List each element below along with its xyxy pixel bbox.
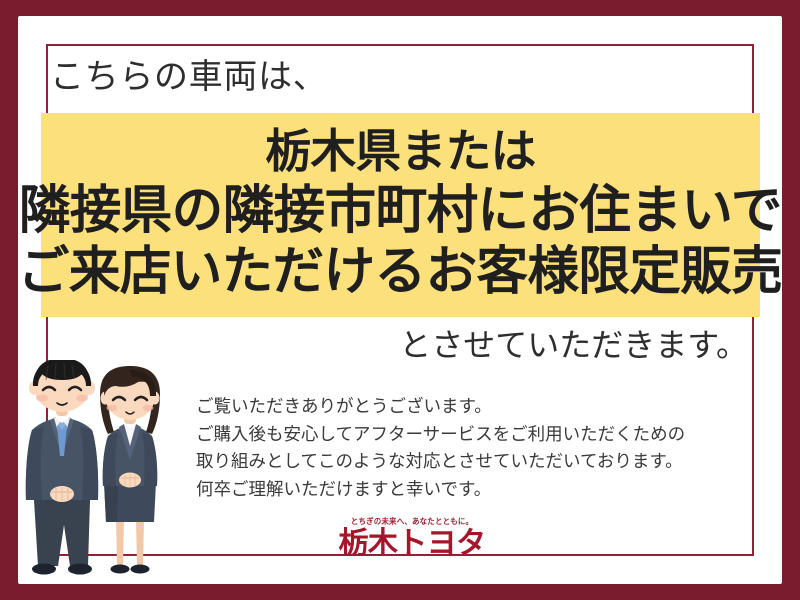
tail-line: とさせていただきます。 (399, 326, 748, 364)
body-line-4: 何卒ご理解いただけますと幸いです。 (196, 477, 685, 505)
highlight-line-1: 栃木県または (265, 127, 536, 176)
bowing-staff-svg (12, 360, 192, 588)
lead-line: こちらの車両は、 (50, 58, 327, 97)
highlight-line-2: 隣接県の隣接市町村にお住まいで (19, 184, 782, 239)
businesswoman-figure (100, 366, 160, 574)
logo-wordmark: 栃木トヨタ (322, 529, 502, 559)
body-line-1: ご覧いただきありがとうございます。 (196, 394, 685, 422)
logo-tagline: とちぎの未来へ、あなたとともに。 (322, 516, 502, 528)
poster-canvas: こちらの車両は、 栃木県または 隣接県の隣接市町村にお住まいで ご来店いただける… (0, 0, 800, 600)
businessman-figure (26, 360, 98, 575)
highlight-line-3: ご来店いただけるお客様限定販売 (18, 245, 782, 300)
body-line-3: 取り組みとしてこのような対応とさせていただいております。 (196, 449, 685, 477)
bowing-staff-illustration (12, 360, 192, 588)
dealer-logo: とちぎの未来へ、あなたとともに。 栃木トヨタ (322, 516, 502, 559)
body-line-2: ご購入後も安心してアフターサービスをご利用いただくための (196, 422, 685, 450)
highlight-block: 栃木県または 隣接県の隣接市町村にお住まいで ご来店いただけるお客様限定販売 (41, 113, 760, 317)
body-paragraph: ご覧いただきありがとうございます。 ご購入後も安心してアフターサービスをご利用い… (196, 394, 685, 505)
